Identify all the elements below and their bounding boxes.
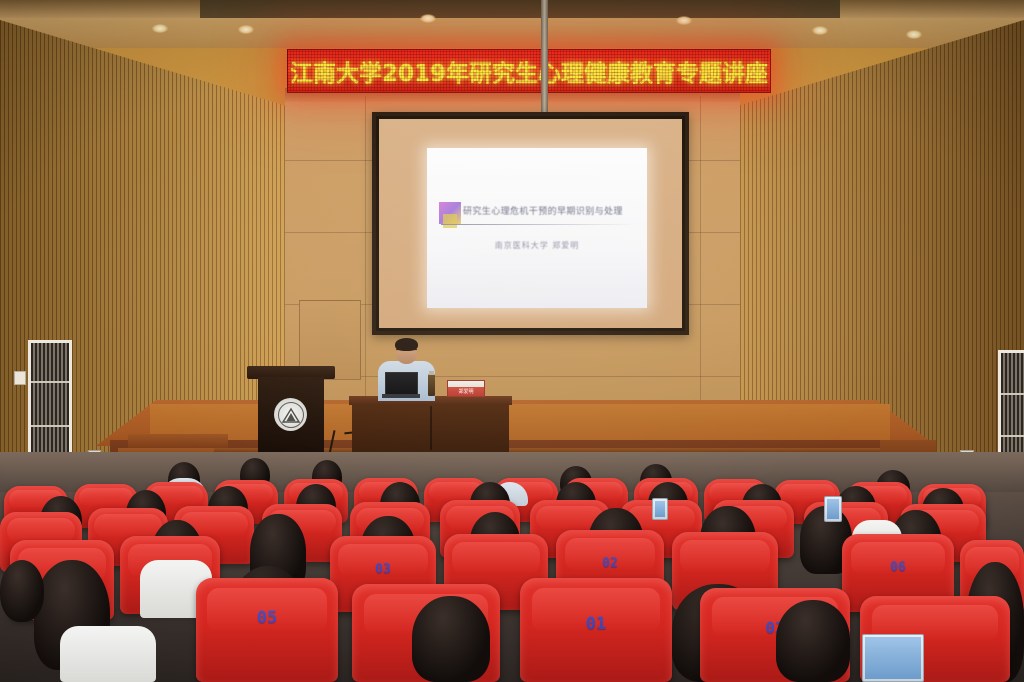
seat-number: 05 xyxy=(196,608,338,628)
phone-device[interactable] xyxy=(824,496,842,522)
seat-number: 02 xyxy=(556,556,664,571)
tablet-device[interactable] xyxy=(862,634,924,682)
lecture-hall-photo: 江南大学2019年研究生心理健康教育专题讲座 研究生心理危机干预的早期识别与处理… xyxy=(0,0,1024,682)
seat-number: 06 xyxy=(842,560,954,575)
audience-member xyxy=(776,600,850,682)
phone-device[interactable] xyxy=(652,498,668,520)
auditorium-seat[interactable]: 01 xyxy=(520,578,672,682)
device-screen xyxy=(827,499,839,519)
seat-number: 03 xyxy=(330,562,436,577)
auditorium-seat[interactable]: 05 xyxy=(196,578,338,682)
audience-member xyxy=(0,560,44,622)
seat-number: 01 xyxy=(520,614,672,634)
audience-member-torso xyxy=(60,626,156,682)
seating-area: 03020605030102 xyxy=(0,0,1024,682)
device-screen xyxy=(865,637,921,679)
audience-member xyxy=(412,596,490,682)
device-screen xyxy=(655,501,665,517)
